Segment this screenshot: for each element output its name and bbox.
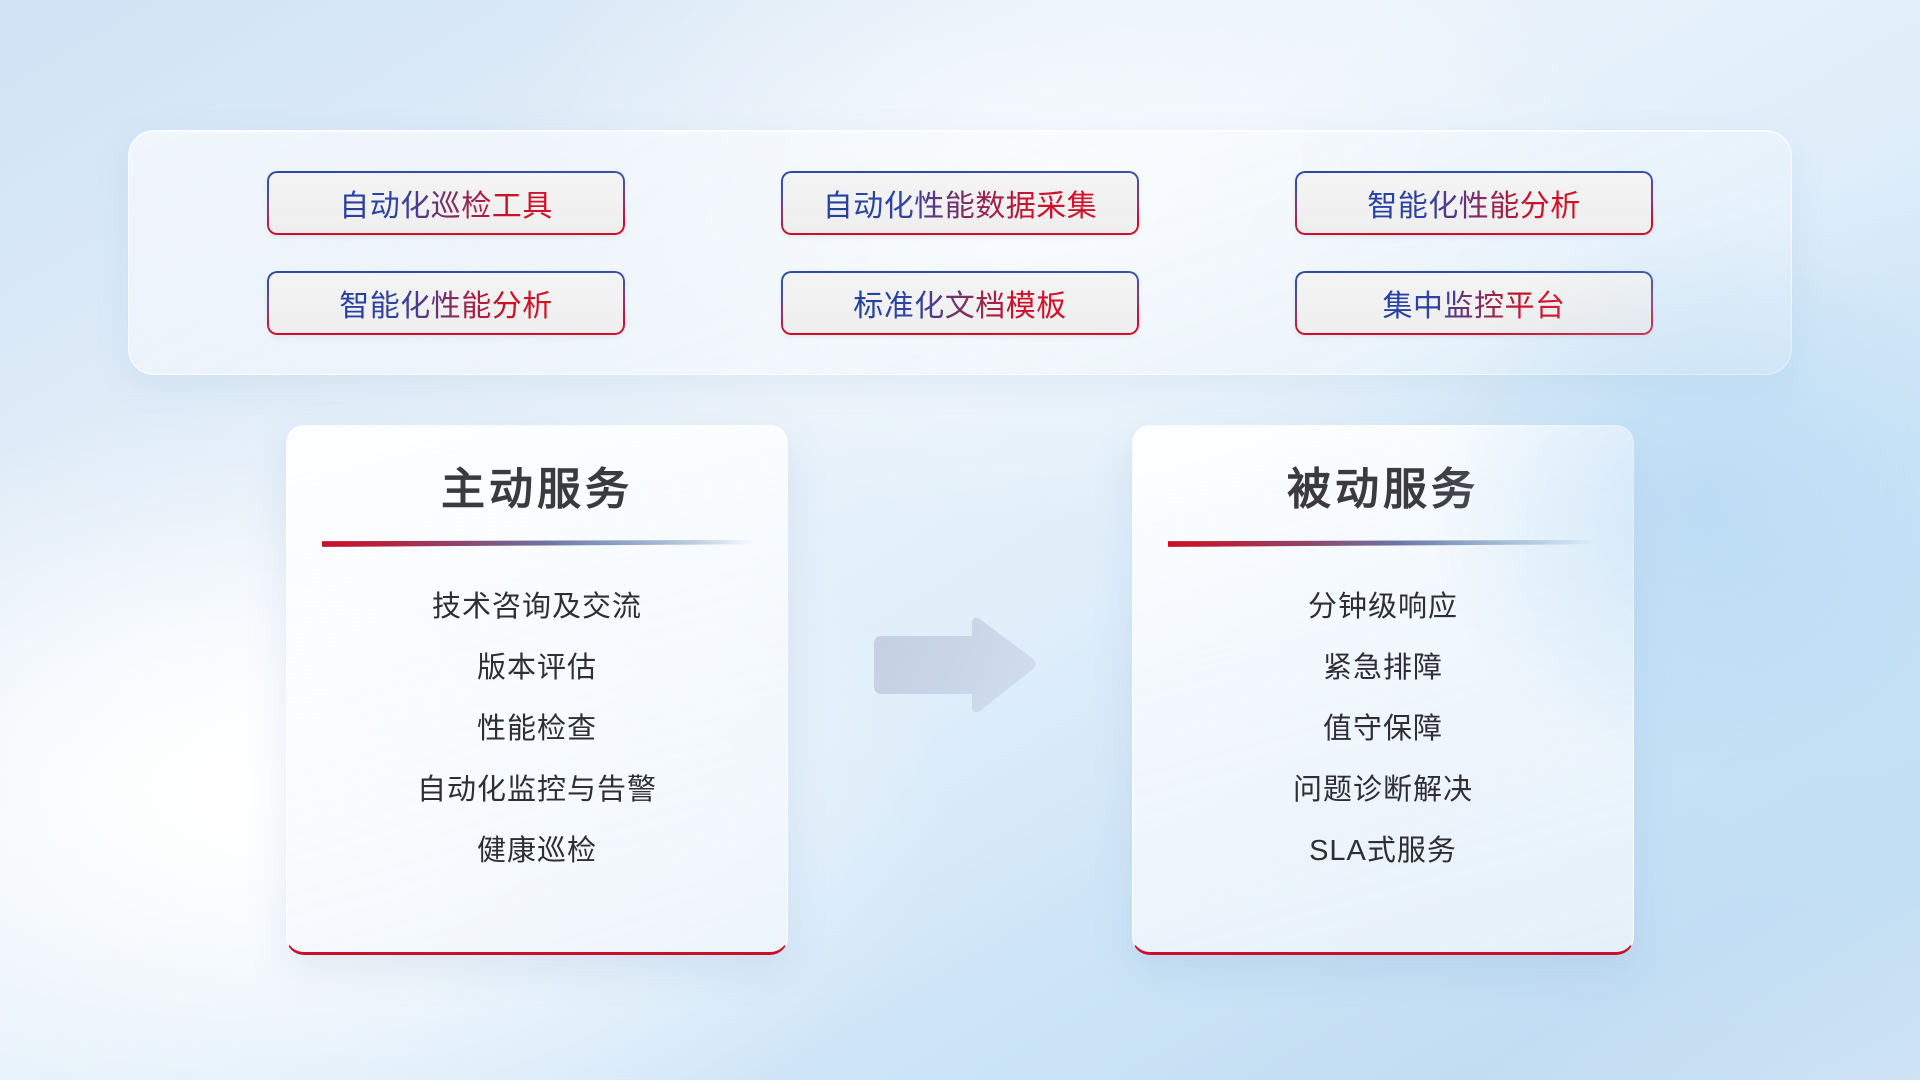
card-title: 主动服务: [321, 464, 753, 516]
capability-pill-label: 智能化性能分析: [1367, 181, 1581, 225]
service-card-reactive: 被动服务 分钟级响应 紧急排障 值守保障 问题诊断解决 SLA式服务: [1132, 425, 1634, 955]
capability-pill-grid: 自动化巡检工具 自动化性能数据采集 智能化性能分析 智能化性能分析 标准化文档模…: [129, 167, 1791, 339]
capability-pill[interactable]: 自动化性能数据采集: [781, 171, 1139, 235]
capability-pill-label: 集中监控平台: [1383, 281, 1566, 325]
service-card-proactive: 主动服务 技术咨询及交流 版本评估 性能检查 自动化监控与告警 健康巡检: [286, 425, 788, 955]
card-divider-bar: [1168, 540, 1598, 547]
capability-pill-label: 自动化性能数据采集: [823, 181, 1098, 225]
card-item-list: 分钟级响应 紧急排障 值守保障 问题诊断解决 SLA式服务: [1167, 577, 1599, 882]
capability-pill-label: 标准化文档模板: [853, 281, 1067, 325]
card-divider: [1168, 540, 1598, 547]
capability-pill[interactable]: 标准化文档模板: [781, 271, 1139, 335]
card-divider-bar: [322, 540, 752, 547]
list-item: 值守保障: [1167, 699, 1599, 760]
list-item: 版本评估: [321, 638, 753, 699]
list-item: 自动化监控与告警: [321, 760, 753, 821]
capability-pill[interactable]: 智能化性能分析: [1295, 171, 1653, 235]
capability-pill-label: 自动化巡检工具: [339, 181, 553, 225]
list-item: SLA式服务: [1167, 821, 1599, 882]
card-divider: [322, 540, 752, 547]
slide-canvas: 自动化巡检工具 自动化性能数据采集 智能化性能分析 智能化性能分析 标准化文档模…: [0, 0, 1920, 1080]
list-item: 性能检查: [321, 699, 753, 760]
list-item: 紧急排障: [1167, 638, 1599, 699]
list-item: 技术咨询及交流: [321, 577, 753, 638]
card-item-list: 技术咨询及交流 版本评估 性能检查 自动化监控与告警 健康巡检: [321, 577, 753, 882]
card-title: 被动服务: [1167, 464, 1599, 516]
list-item: 分钟级响应: [1167, 577, 1599, 638]
capability-pill[interactable]: 集中监控平台: [1295, 271, 1653, 335]
capability-pill[interactable]: 智能化性能分析: [267, 271, 625, 335]
capability-pill[interactable]: 自动化巡检工具: [267, 171, 625, 235]
capability-pill-label: 智能化性能分析: [339, 281, 553, 325]
list-item: 健康巡检: [321, 821, 753, 882]
list-item: 问题诊断解决: [1167, 760, 1599, 821]
arrow-right-icon: [868, 612, 1040, 720]
capability-panel: 自动化巡检工具 自动化性能数据采集 智能化性能分析 智能化性能分析 标准化文档模…: [128, 130, 1792, 375]
